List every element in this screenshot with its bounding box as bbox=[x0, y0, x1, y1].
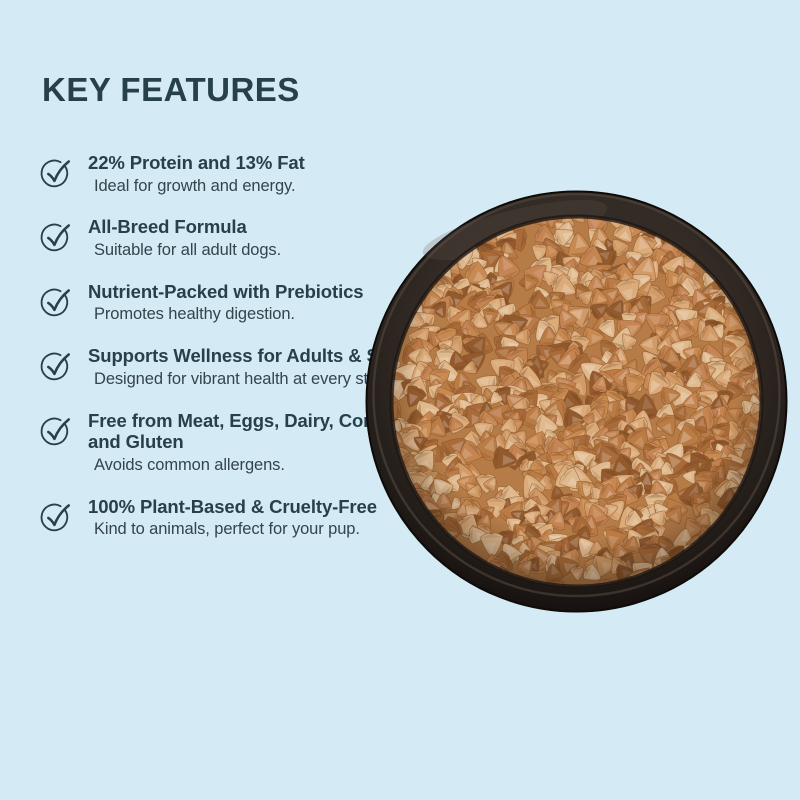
page-title: KEY FEATURES bbox=[42, 72, 300, 108]
dog-food-bowl-photo bbox=[365, 190, 788, 613]
check-circle-icon bbox=[38, 286, 73, 321]
check-circle-icon bbox=[38, 221, 73, 256]
check-circle-icon bbox=[38, 501, 73, 536]
feature-heading: 22% Protein and 13% Fat bbox=[88, 152, 458, 174]
check-circle-icon bbox=[38, 415, 73, 450]
check-circle-icon bbox=[38, 350, 73, 385]
key-features-panel: KEY FEATURES 22% Protein and 13% FatIdea… bbox=[0, 0, 800, 800]
check-circle-icon bbox=[38, 157, 73, 192]
